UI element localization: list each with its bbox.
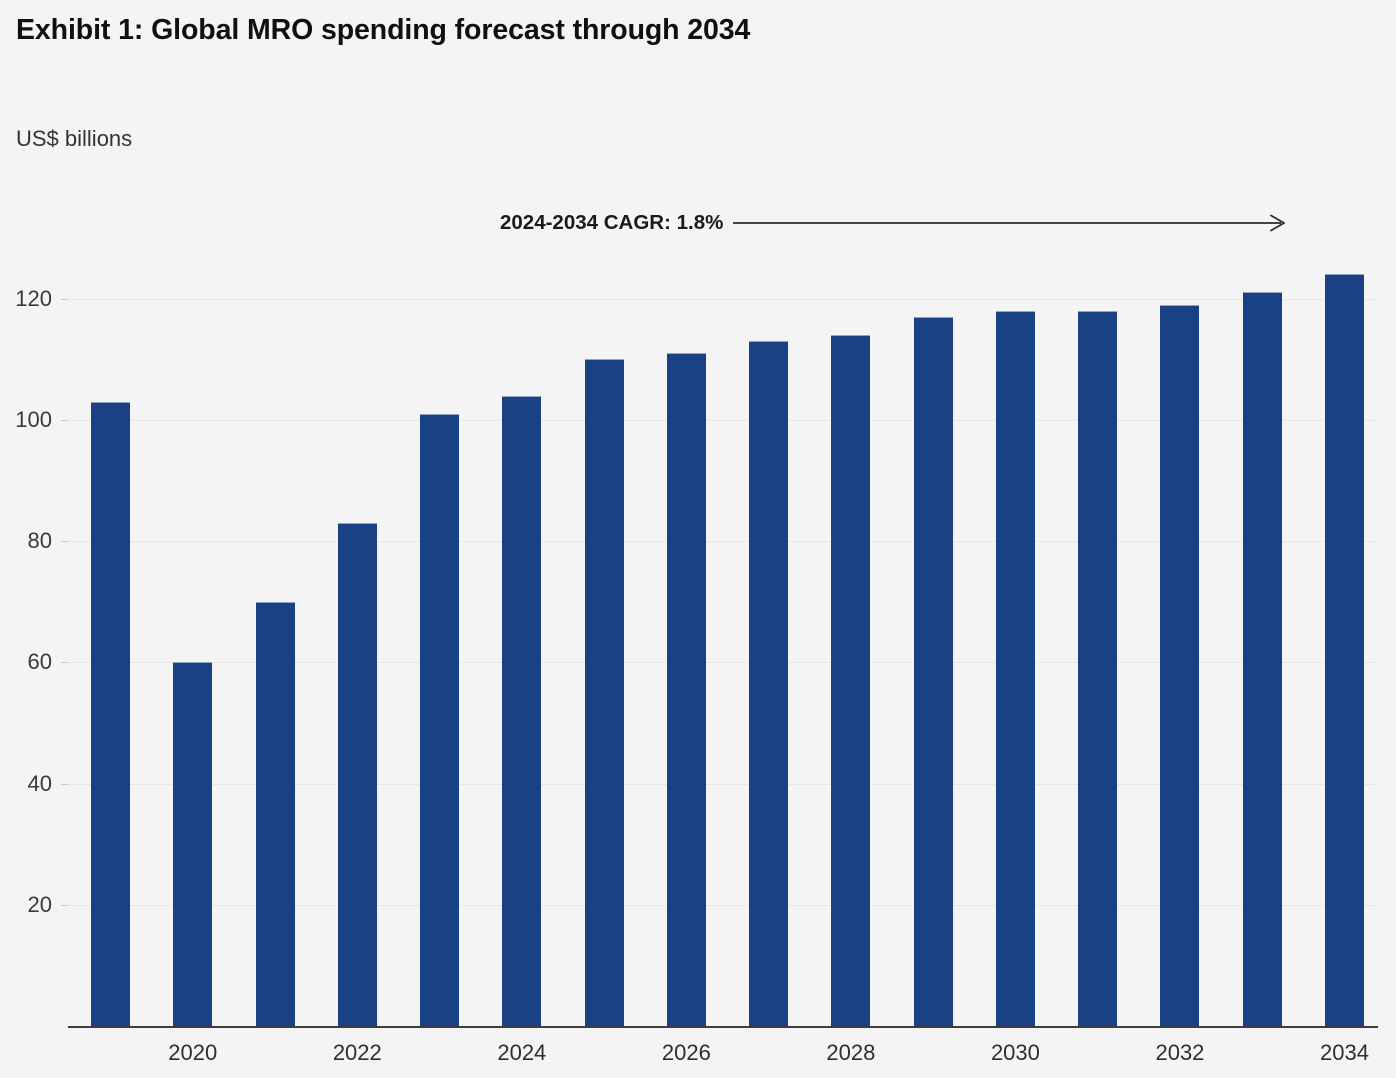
x-axis-tick-label: 2030 [991,1040,1040,1066]
y-axis-tick-label: 100 [15,407,52,433]
bar [831,335,870,1026]
y-axis-tick [61,784,68,785]
y-axis-tick [61,662,68,663]
plot-area: 20406080100120 2020202220242026202820302… [68,250,1378,1027]
y-axis-tick [61,299,68,300]
bar [502,396,541,1027]
bar [173,662,212,1026]
y-axis-tick-label: 120 [15,286,52,312]
bar [91,402,130,1026]
y-axis-tick [61,905,68,906]
x-axis-tick-label: 2024 [497,1040,546,1066]
y-axis-tick-label: 80 [28,528,52,554]
bars-layer [68,250,1378,1026]
y-axis-tick [61,541,68,542]
bar [914,317,953,1026]
y-axis-tick [61,420,68,421]
y-axis-tick-label: 60 [28,649,52,675]
x-axis-tick-label: 2026 [662,1040,711,1066]
x-axis-tick-label: 2032 [1155,1040,1204,1066]
bar [667,353,706,1026]
bar [420,414,459,1026]
x-axis-line [68,1026,1378,1028]
y-axis-tick-label: 40 [28,771,52,797]
cagr-annotation-label: 2024-2034 CAGR: 1.8% [500,213,723,234]
bar [256,602,295,1026]
bar [1325,274,1364,1026]
chart-container: Exhibit 1: Global MRO spending forecast … [0,0,1396,1078]
x-axis-tick-label: 2034 [1320,1040,1369,1066]
bar [1078,311,1117,1026]
x-axis-tick-label: 2022 [333,1040,382,1066]
bar [996,311,1035,1026]
x-axis-tick-label: 2020 [168,1040,217,1066]
bar [1243,292,1282,1026]
bar [749,341,788,1026]
cagr-annotation: 2024-2034 CAGR: 1.8% [500,208,1293,238]
y-axis-unit-label: US$ billions [16,126,132,152]
bar [585,359,624,1026]
page-title: Exhibit 1: Global MRO spending forecast … [16,14,750,47]
bar [1160,305,1199,1026]
bar [338,523,377,1026]
y-axis-tick-label: 20 [28,892,52,918]
x-axis-tick-label: 2028 [826,1040,875,1066]
right-arrow-icon [733,214,1293,232]
